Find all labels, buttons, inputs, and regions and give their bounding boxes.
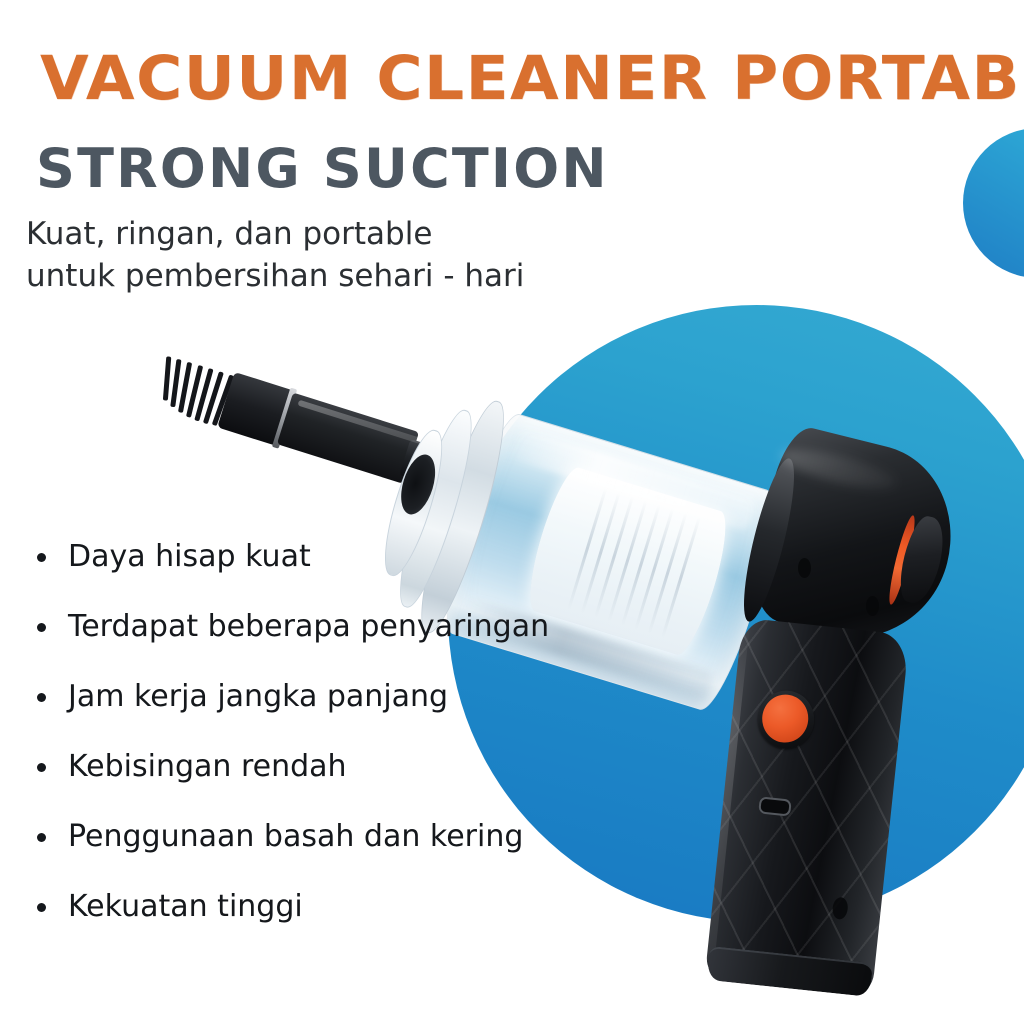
feature-label: Kebisingan rendah — [68, 749, 347, 784]
decorative-circle-top-right — [963, 128, 1024, 278]
page-title: VACUUM CLEANER PORTABLE — [40, 48, 1024, 109]
feature-label: Penggunaan basah dan kering — [68, 819, 523, 854]
list-item: Kebisingan rendah — [26, 750, 666, 783]
bullet-icon — [37, 833, 46, 842]
list-item: Terdapat beberapa penyaringan — [26, 610, 666, 643]
bullet-icon — [37, 623, 46, 632]
canister-inlet-port — [395, 450, 442, 518]
list-item: Daya hisap kuat — [26, 540, 666, 573]
brush-ferrule — [217, 372, 295, 447]
feature-label: Jam kerja jangka panjang — [68, 679, 448, 714]
feature-label: Kekuatan tinggi — [68, 889, 303, 924]
product-advertisement-poster: VACUUM CLEANER PORTABLE STRONG SUCTION K… — [0, 0, 1024, 1024]
subheading: STRONG SUCTION — [36, 142, 609, 196]
list-item: Penggunaan basah dan kering — [26, 820, 666, 853]
bullet-icon — [37, 763, 46, 772]
bullet-icon — [37, 903, 46, 912]
tagline: Kuat, ringan, dan portable untuk pembers… — [26, 214, 524, 297]
handle-base-cap — [706, 946, 873, 997]
feature-label: Daya hisap kuat — [68, 539, 311, 574]
brush-metal-band — [272, 387, 297, 448]
brush-bristles — [159, 358, 246, 434]
feature-label: Terdapat beberapa penyaringan — [68, 609, 549, 644]
brush-highlight — [297, 400, 490, 466]
brush-neck — [277, 393, 419, 484]
bullet-icon — [37, 553, 46, 562]
list-item: Kekuatan tinggi — [26, 890, 666, 923]
brush-nozzle-attachment — [142, 352, 493, 566]
list-item: Jam kerja jangka panjang — [26, 680, 666, 713]
tagline-line-1: Kuat, ringan, dan portable — [26, 214, 524, 256]
feature-list: Daya hisap kuat Terdapat beberapa penyar… — [26, 540, 666, 960]
bullet-icon — [37, 693, 46, 702]
tagline-line-2: untuk pembersihan sehari - hari — [26, 256, 524, 298]
